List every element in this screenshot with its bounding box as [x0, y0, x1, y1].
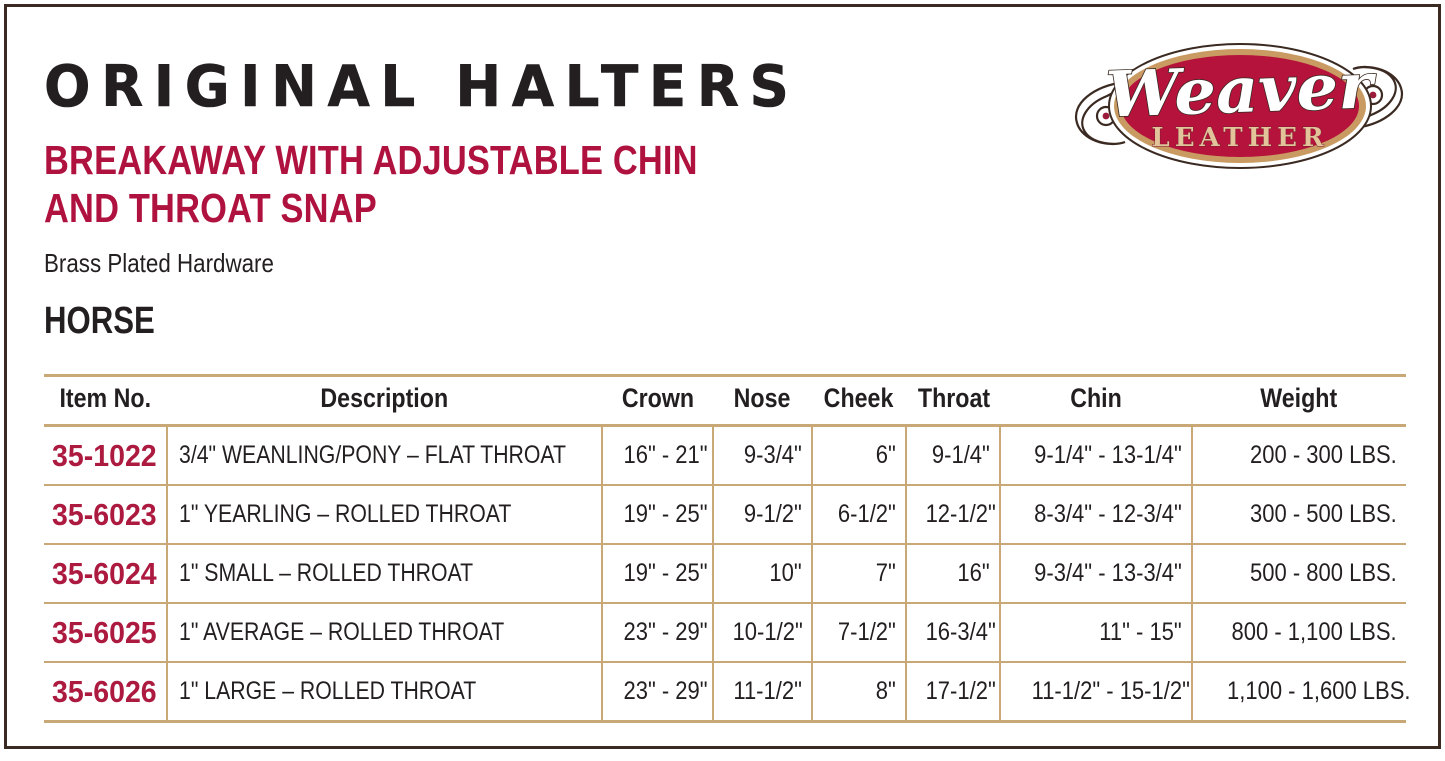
- cell-crown: 19" - 25": [602, 485, 713, 544]
- logo-sub-text: LEATHER: [1151, 123, 1328, 153]
- header-row: Item No. Description Crown Nose Cheek Th…: [44, 376, 1406, 426]
- weaver-leather-logo: Weaver LEATHER: [1063, 20, 1415, 190]
- cell-description: 1" AVERAGE – ROLLED THROAT: [167, 603, 602, 662]
- hardware-note: Brass Plated Hardware: [44, 248, 1042, 278]
- cell-description: 1" SMALL – ROLLED THROAT: [167, 544, 602, 603]
- column-header-description: Description: [167, 376, 602, 426]
- column-header-throat: Throat: [906, 376, 1000, 426]
- cell-cheek: 7-1/2": [812, 603, 906, 662]
- cell-description: 1" YEARLING – ROLLED THROAT: [167, 485, 602, 544]
- cell-chin: 8-3/4" - 12-3/4": [1000, 485, 1192, 544]
- cell-item-no: 35-1022: [44, 426, 167, 486]
- cell-weight: 500 - 800 LBS.: [1192, 544, 1406, 603]
- cell-nose: 11-1/2": [713, 662, 812, 722]
- cell-cheek: 7": [812, 544, 906, 603]
- cell-throat: 16": [906, 544, 1000, 603]
- column-header-weight: Weight: [1192, 376, 1406, 426]
- column-header-nose: Nose: [713, 376, 812, 426]
- subtitle-line-1: BREAKAWAY WITH ADJUSTABLE CHIN: [44, 137, 698, 183]
- cell-chin: 9-3/4" - 13-3/4": [1000, 544, 1192, 603]
- cell-description: 1" LARGE – ROLLED THROAT: [167, 662, 602, 722]
- cell-cheek: 6": [812, 426, 906, 486]
- column-header-chin: Chin: [1000, 376, 1192, 426]
- table-row: 35-6023 1" YEARLING – ROLLED THROAT 19" …: [44, 485, 1406, 544]
- header-block: ORIGINAL HALTERS BREAKAWAY WITH ADJUSTAB…: [44, 56, 1044, 342]
- spec-table: Item No. Description Crown Nose Cheek Th…: [44, 374, 1406, 723]
- cell-item-no: 35-6026: [44, 662, 167, 722]
- logo-brand-text: Weaver: [1105, 49, 1378, 132]
- cell-crown: 23" - 29": [602, 603, 713, 662]
- cell-nose: 10-1/2": [713, 603, 812, 662]
- table-row: 35-6025 1" AVERAGE – ROLLED THROAT 23" -…: [44, 603, 1406, 662]
- cell-weight: 1,100 - 1,600 LBS.: [1192, 662, 1406, 722]
- cell-chin: 11" - 15": [1000, 603, 1192, 662]
- svg-text:LEATHER: LEATHER: [1151, 123, 1328, 153]
- page-subtitle: BREAKAWAY WITH ADJUSTABLE CHIN AND THROA…: [44, 136, 1044, 232]
- cell-description: 3/4" WEANLING/PONY – FLAT THROAT: [167, 426, 602, 486]
- cell-weight: 300 - 500 LBS.: [1192, 485, 1406, 544]
- table-row: 35-1022 3/4" WEANLING/PONY – FLAT THROAT…: [44, 426, 1406, 486]
- cell-throat: 17-1/2": [906, 662, 1000, 722]
- cell-item-no: 35-6024: [44, 544, 167, 603]
- cell-crown: 23" - 29": [602, 662, 713, 722]
- column-header-item-no: Item No.: [44, 376, 167, 426]
- cell-nose: 9-1/2": [713, 485, 812, 544]
- cell-item-no: 35-6025: [44, 603, 167, 662]
- cell-crown: 16" - 21": [602, 426, 713, 486]
- spec-table-wrapper: Item No. Description Crown Nose Cheek Th…: [44, 374, 1406, 723]
- cell-cheek: 6-1/2": [812, 485, 906, 544]
- cell-chin: 9-1/4" - 13-1/4": [1000, 426, 1192, 486]
- cell-throat: 16-3/4": [906, 603, 1000, 662]
- svg-text:Weaver: Weaver: [1105, 49, 1378, 132]
- cell-crown: 19" - 25": [602, 544, 713, 603]
- species-heading: HORSE: [44, 300, 1036, 342]
- column-header-cheek: Cheek: [812, 376, 906, 426]
- cell-nose: 10": [713, 544, 812, 603]
- cell-nose: 9-3/4": [713, 426, 812, 486]
- column-header-crown: Crown: [602, 376, 713, 426]
- subtitle-line-2: AND THROAT SNAP: [44, 184, 1044, 232]
- cell-weight: 800 - 1,100 LBS.: [1192, 603, 1406, 662]
- table-header: Item No. Description Crown Nose Cheek Th…: [44, 376, 1406, 426]
- table-body: 35-1022 3/4" WEANLING/PONY – FLAT THROAT…: [44, 426, 1406, 722]
- page-title: ORIGINAL HALTERS: [44, 56, 1004, 118]
- table-row: 35-6024 1" SMALL – ROLLED THROAT 19" - 2…: [44, 544, 1406, 603]
- catalog-page: ORIGINAL HALTERS BREAKAWAY WITH ADJUSTAB…: [0, 0, 1445, 761]
- cell-chin: 11-1/2" - 15-1/2": [1000, 662, 1192, 722]
- cell-cheek: 8": [812, 662, 906, 722]
- cell-item-no: 35-6023: [44, 485, 167, 544]
- cell-weight: 200 - 300 LBS.: [1192, 426, 1406, 486]
- cell-throat: 12-1/2": [906, 485, 1000, 544]
- cell-throat: 9-1/4": [906, 426, 1000, 486]
- table-row: 35-6026 1" LARGE – ROLLED THROAT 23" - 2…: [44, 662, 1406, 722]
